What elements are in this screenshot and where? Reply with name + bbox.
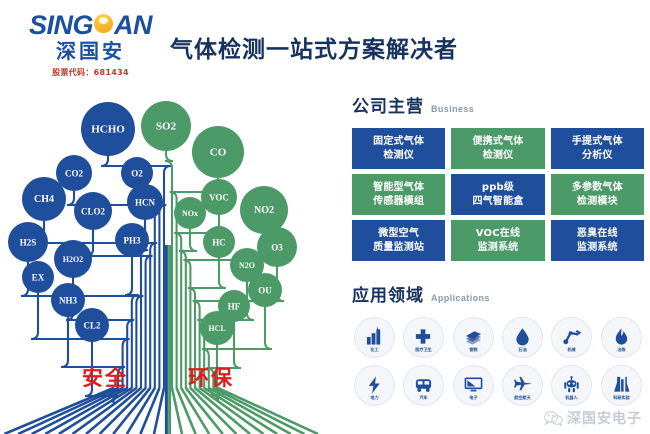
logo-chinese-name: 深国安 xyxy=(18,40,163,63)
gas-node[interactable]: HCHO xyxy=(81,102,135,156)
tree-root xyxy=(213,388,304,434)
gas-node-label: HC xyxy=(212,238,226,248)
gas-node-label: HCN xyxy=(135,198,156,208)
gas-node-label: HCHO xyxy=(91,124,125,136)
gas-node[interactable]: VOC xyxy=(201,179,237,215)
gas-node-label: N2O xyxy=(239,261,255,270)
gas-node[interactable]: SO2 xyxy=(141,101,191,151)
application-disc: 汽车 xyxy=(403,365,444,406)
gas-node[interactable]: CO xyxy=(192,126,244,178)
business-card-line1: VOC在线 xyxy=(476,227,520,241)
application-item[interactable]: 机械 xyxy=(549,317,594,358)
application-label: 航空航天 xyxy=(505,397,541,401)
gas-node-label: PH3 xyxy=(124,236,141,246)
application-disc: 电力 xyxy=(354,365,395,406)
business-section: 公司主营 Business 固定式气体检测仪便携式气体检测仪手提式气体分析仪智能… xyxy=(352,92,644,261)
monitor-icon xyxy=(464,375,483,394)
business-card-line1: 固定式气体 xyxy=(373,135,424,149)
business-card-line1: 微型空气 xyxy=(378,227,419,241)
root-word-safety: 安全 xyxy=(82,362,128,392)
gas-node[interactable]: H2S xyxy=(8,222,48,262)
gas-node-label: NO2 xyxy=(254,205,274,216)
application-disc: 钢铁 xyxy=(453,317,494,358)
application-disc: 石油 xyxy=(502,317,543,358)
gas-node-label: CL2 xyxy=(83,321,101,331)
gas-node-label: O2 xyxy=(131,169,143,179)
business-card-line1: 多参数气体 xyxy=(572,181,623,195)
application-disc: 化工 xyxy=(354,317,395,358)
application-disc: 航空航天 xyxy=(502,365,543,406)
logo-wordmark: SINGOAN xyxy=(18,12,163,39)
gas-node[interactable]: NH3 xyxy=(51,283,85,317)
root-word-environment: 环保 xyxy=(188,362,234,392)
application-item[interactable]: 电力 xyxy=(352,365,397,406)
application-item[interactable]: 汽车 xyxy=(401,365,446,406)
gas-node-label: HF xyxy=(228,302,241,312)
gas-node-label: OU xyxy=(258,286,272,296)
application-item[interactable]: 医疗卫生 xyxy=(401,317,446,358)
business-card[interactable]: 固定式气体检测仪 xyxy=(352,128,445,169)
application-label: 汽车 xyxy=(406,397,442,401)
business-card-line2: 检测仪 xyxy=(383,149,414,163)
gas-node-label: CLO2 xyxy=(81,207,106,217)
application-item[interactable]: 化工 xyxy=(352,317,397,358)
applications-heading-cn: 应用领域 xyxy=(352,281,424,306)
business-card[interactable]: 便携式气体检测仪 xyxy=(451,128,544,169)
flame-icon xyxy=(612,327,631,346)
business-card-line2: 分析仪 xyxy=(582,149,613,163)
gas-node-label: HCL xyxy=(208,324,225,333)
business-card[interactable]: 恶臭在线监测系统 xyxy=(551,220,644,261)
page-header: SINGOAN 深国安 股票代码：681434 气体检测一站式方案解决者 xyxy=(0,0,650,88)
application-label: 冶炼 xyxy=(603,349,639,353)
business-card-line2: 监测系统 xyxy=(577,241,618,255)
gas-node[interactable]: EX xyxy=(22,261,54,293)
gas-node-label: H2O2 xyxy=(63,255,83,264)
business-card[interactable]: ppb级四气智能盒 xyxy=(451,174,544,215)
business-card-line2: 检测仪 xyxy=(483,149,514,163)
gas-node-label: NH3 xyxy=(59,296,78,306)
right-column: 公司主营 Business 固定式气体检测仪便携式气体检测仪手提式气体分析仪智能… xyxy=(352,92,644,406)
application-label: 钢铁 xyxy=(455,349,491,353)
business-card-line2: 监测系统 xyxy=(478,241,519,255)
business-card-line2: 四气智能盒 xyxy=(472,195,523,209)
gas-node[interactable]: NOx xyxy=(174,197,206,229)
application-item[interactable]: 冶炼 xyxy=(599,317,644,358)
robot-icon xyxy=(562,375,581,394)
business-card[interactable]: VOC在线监测系统 xyxy=(451,220,544,261)
business-card[interactable]: 手提式气体分析仪 xyxy=(551,128,644,169)
business-card[interactable]: 多参数气体检测模块 xyxy=(551,174,644,215)
page-title: 气体检测一站式方案解决者 xyxy=(170,30,458,64)
business-card-line1: 恶臭在线 xyxy=(577,227,618,241)
gas-node-label: SO2 xyxy=(156,121,177,133)
tree-root xyxy=(32,388,123,434)
application-label: 石油 xyxy=(505,349,541,353)
logo-wordmark-post: AN xyxy=(114,10,152,40)
gas-node[interactable]: HCN xyxy=(127,184,163,220)
business-card[interactable]: 智能型气体传感器模组 xyxy=(352,174,445,215)
application-label: 化工 xyxy=(357,349,393,353)
logo-wordmark-pre: SING xyxy=(29,10,93,40)
gas-node-label: VOC xyxy=(209,193,229,203)
wechat-icon xyxy=(544,411,563,426)
application-item[interactable]: 航空航天 xyxy=(500,365,545,406)
application-disc: 医疗卫生 xyxy=(403,317,444,358)
gas-node[interactable]: H2O2 xyxy=(54,240,92,278)
application-item[interactable]: 石油 xyxy=(500,317,545,358)
application-label: 医疗卫生 xyxy=(406,349,442,353)
gas-node[interactable]: OU xyxy=(248,273,282,307)
application-item[interactable]: 机器人 xyxy=(549,365,594,406)
business-card-line2: 检测模块 xyxy=(577,195,618,209)
medical-cross-icon xyxy=(414,327,433,346)
gas-node[interactable]: CH4 xyxy=(22,177,66,221)
application-disc: 电子 xyxy=(453,365,494,406)
stock-code: 股票代码：681434 xyxy=(18,67,163,78)
business-grid: 固定式气体检测仪便携式气体检测仪手提式气体分析仪智能型气体传感器模组ppb级四气… xyxy=(352,128,644,261)
gas-node-label: CO xyxy=(210,147,227,159)
logo-sun-o-icon: O xyxy=(93,12,114,39)
business-card-line1: 便携式气体 xyxy=(472,135,523,149)
gas-node[interactable]: CL2 xyxy=(75,308,109,342)
application-disc: 机器人 xyxy=(551,365,592,406)
poster-page: SINGOAN 深国安 股票代码：681434 气体检测一站式方案解决者 HCH… xyxy=(0,0,650,434)
company-logo: SINGOAN 深国安 股票代码：681434 xyxy=(18,12,163,78)
business-heading: 公司主营 Business xyxy=(352,92,644,117)
application-label: 机械 xyxy=(554,349,590,353)
application-disc: 冶炼 xyxy=(601,317,642,358)
lightning-bolt-icon xyxy=(365,375,384,394)
applications-heading: 应用领域 Applications xyxy=(352,281,644,306)
applications-grid: 化工医疗卫生 钢铁石油 机械冶炼电力 汽车 电子航空航天 机器人 xyxy=(352,317,644,406)
gas-node-label: O3 xyxy=(271,243,283,253)
business-card-line1: ppb级 xyxy=(482,181,514,195)
gas-node[interactable]: HCL xyxy=(200,311,234,345)
gas-tree-diagram: HCHOCO2O2CH4CLO2HCNH2SPH3H2O2EXNH3CL2SO2… xyxy=(0,88,340,434)
tree-svg: HCHOCO2O2CH4CLO2HCNH2SPH3H2O2EXNH3CL2SO2… xyxy=(0,88,340,434)
gas-node-label: CO2 xyxy=(65,169,84,179)
bus-icon xyxy=(414,375,433,394)
business-card-line2: 质量监测站 xyxy=(373,241,424,255)
application-label: 电力 xyxy=(357,397,393,401)
business-card-line1: 手提式气体 xyxy=(572,135,623,149)
gas-node[interactable]: HC xyxy=(203,226,235,258)
gas-node[interactable]: O2 xyxy=(121,157,153,189)
business-heading-en: Business xyxy=(431,104,474,114)
applications-section: 应用领域 Applications 化工医疗卫生 钢铁石油 机械冶炼电力 汽车 … xyxy=(352,281,644,406)
robot-arm-icon xyxy=(562,327,581,346)
application-disc: 科研实验 xyxy=(601,365,642,406)
applications-heading-en: Applications xyxy=(431,293,490,303)
gas-node-label: EX xyxy=(32,273,45,283)
gas-node-label: NOx xyxy=(182,209,198,218)
steel-beam-icon xyxy=(464,327,483,346)
business-card-line1: 智能型气体 xyxy=(373,181,424,195)
business-card-line2: 传感器模组 xyxy=(373,195,424,209)
gas-node-label: CH4 xyxy=(34,194,54,205)
airplane-icon xyxy=(513,375,532,394)
factory-icon xyxy=(365,327,384,346)
wechat-watermark: 深国安电子 xyxy=(544,408,642,428)
application-label: 科研实验 xyxy=(603,397,639,401)
application-disc: 机械 xyxy=(551,317,592,358)
application-label: 电子 xyxy=(455,397,491,401)
gas-node[interactable]: CLO2 xyxy=(74,192,112,230)
application-label: 机器人 xyxy=(554,397,590,401)
gas-node[interactable]: PH3 xyxy=(115,223,149,257)
oil-drop-icon xyxy=(513,327,532,346)
business-heading-cn: 公司主营 xyxy=(352,92,424,117)
application-item[interactable]: 钢铁 xyxy=(451,317,496,358)
gas-node-label: H2S xyxy=(20,238,37,248)
application-item[interactable]: 科研实验 xyxy=(599,365,644,406)
gas-node[interactable]: NO2 xyxy=(240,186,288,234)
business-card[interactable]: 微型空气质量监测站 xyxy=(352,220,445,261)
application-item[interactable]: 电子 xyxy=(451,365,496,406)
watermark-text: 深国安电子 xyxy=(567,408,642,428)
lab-flask-icon xyxy=(612,375,631,394)
